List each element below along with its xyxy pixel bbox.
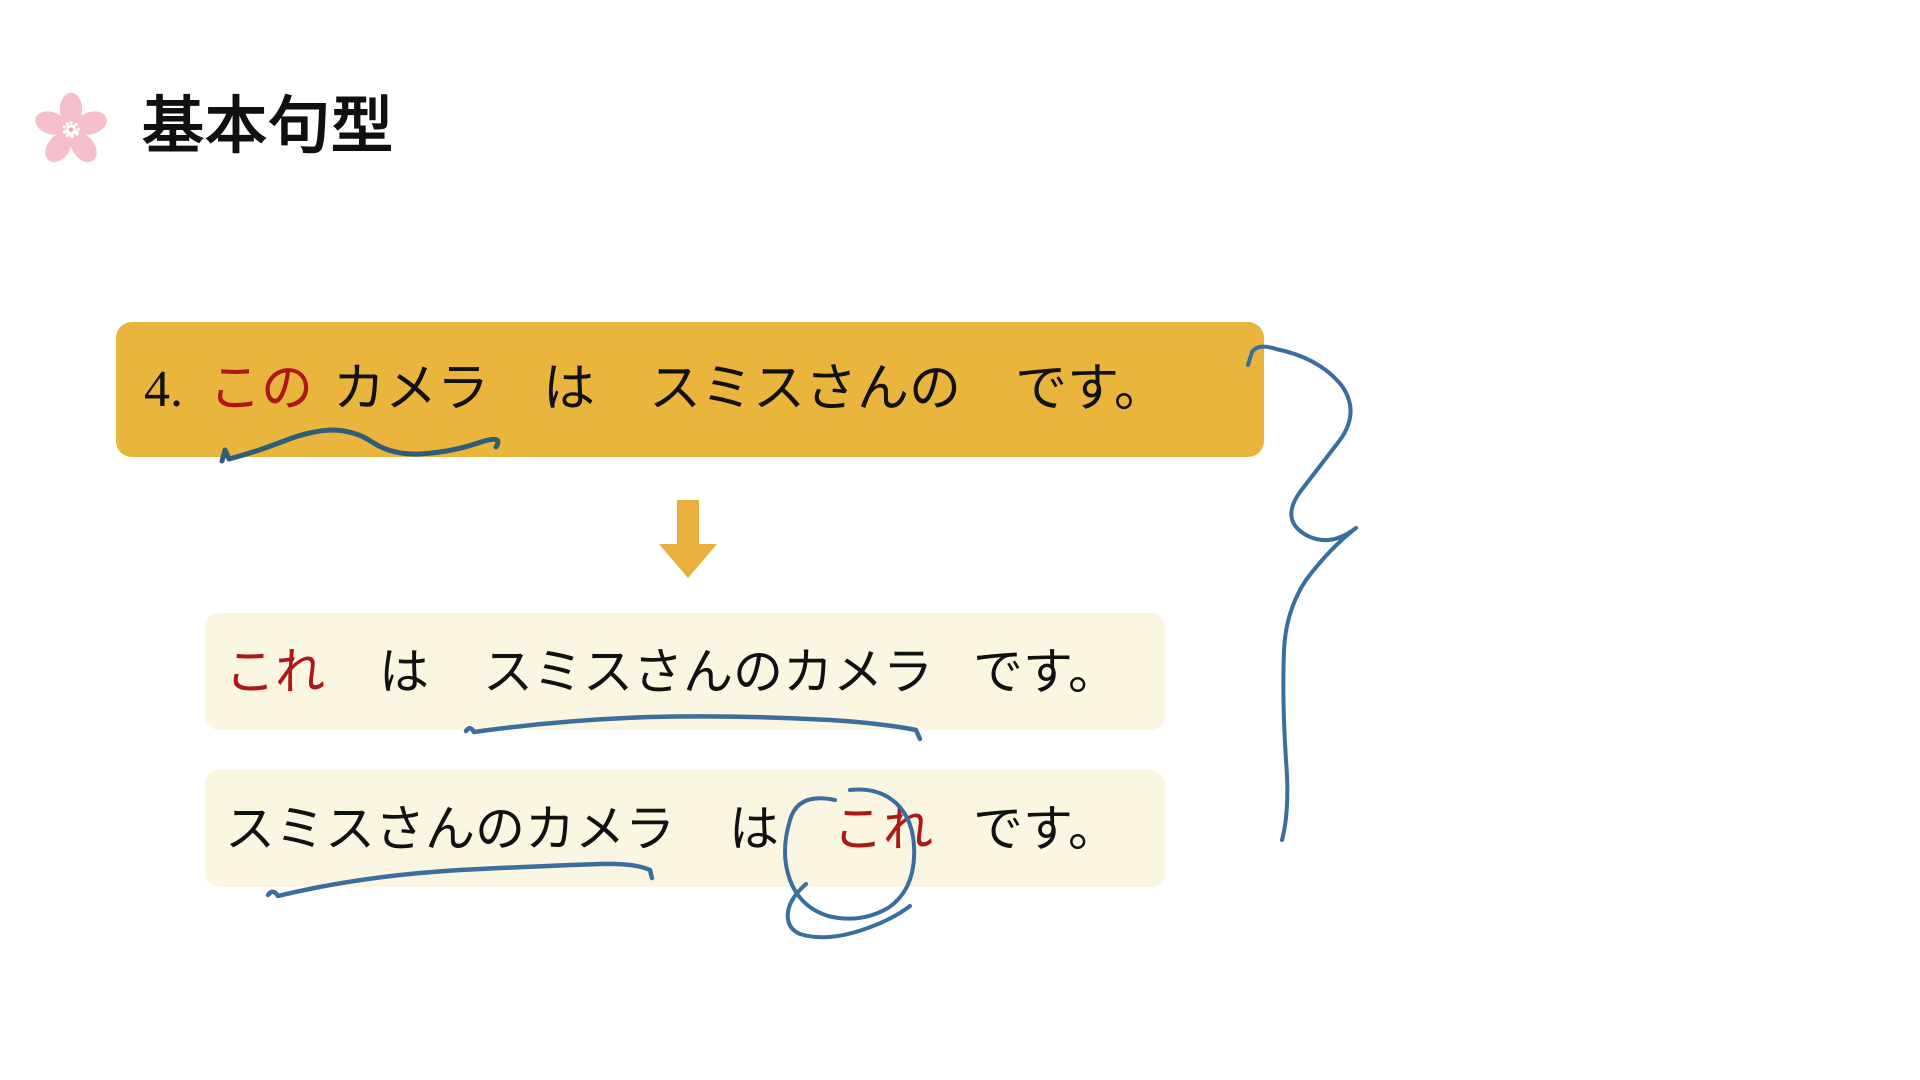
- segment-wa: は: [543, 364, 595, 416]
- segment-kono: この: [209, 364, 313, 416]
- sentence-number: 4.: [144, 364, 183, 416]
- segment-wa: は: [379, 647, 429, 697]
- segment-smith-camera: スミスさんのカメラ: [483, 647, 933, 697]
- page-title: 基本句型: [142, 95, 394, 157]
- sakura-flower-icon: [34, 92, 108, 166]
- segment-kore: これ: [833, 804, 933, 854]
- arrow-down-icon: [655, 500, 721, 578]
- segment-kore: これ: [225, 647, 325, 697]
- slide-header: 基本句型: [34, 86, 394, 166]
- segment-smith-camera: スミスさんのカメラ: [225, 804, 675, 854]
- transformed-sentence-1: これ は スミスさんのカメラ です。: [205, 613, 1165, 730]
- example-sentence-banner: 4. この カメラ は スミスさんの です。: [116, 322, 1264, 457]
- segment-wa: は: [729, 804, 779, 854]
- transformed-sentence-2: スミスさんのカメラ は これ です。: [205, 770, 1165, 887]
- segment-desu: です。: [973, 804, 1118, 854]
- curly-brace-grouping: [1248, 347, 1356, 840]
- segment-desu: です。: [1015, 364, 1166, 416]
- segment-smith-no: スミスさんの: [649, 364, 961, 416]
- segment-camera: カメラ: [333, 364, 489, 416]
- segment-desu: です。: [973, 647, 1118, 697]
